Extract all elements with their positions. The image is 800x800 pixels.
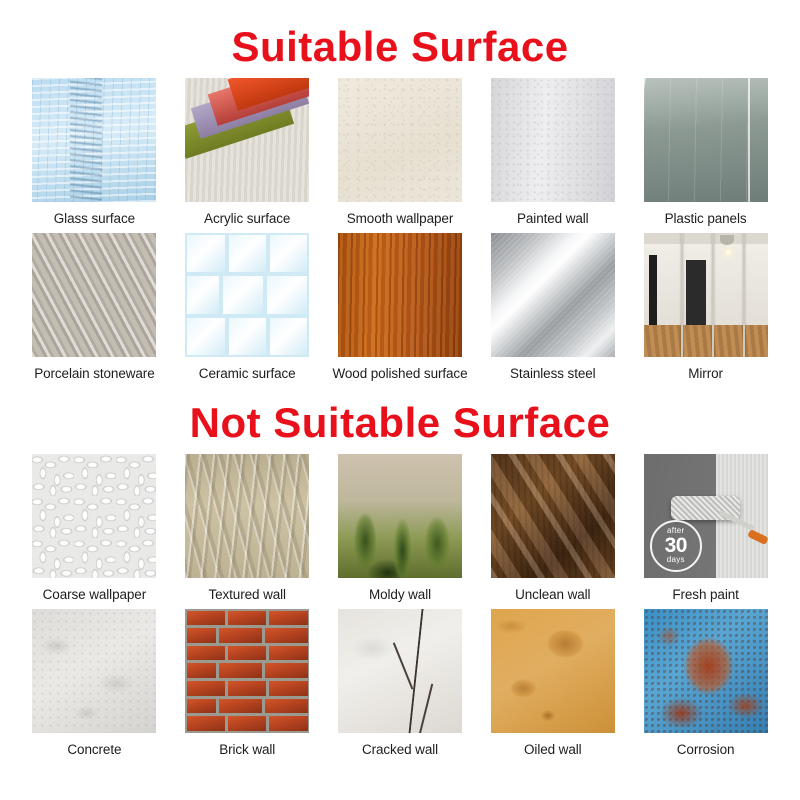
brick — [187, 628, 217, 643]
brick-row — [185, 644, 309, 662]
brick — [269, 716, 307, 731]
caption-stainless-steel: Stainless steel — [510, 366, 596, 381]
brick — [187, 681, 225, 696]
thumbnail-corrosion — [644, 609, 768, 733]
crack-line — [408, 609, 423, 733]
brick — [187, 699, 217, 714]
thumbnail-acrylic-surface — [185, 78, 309, 202]
thumbnail-plastic-panels — [644, 78, 768, 202]
brick-row — [185, 697, 309, 715]
caption-moldy-wall: Moldy wall — [369, 587, 431, 602]
thumbnail-smooth-wallpaper — [338, 78, 462, 202]
brick-row — [185, 609, 309, 627]
thumbnail-ceramic-surface — [185, 233, 309, 357]
brick — [228, 681, 266, 696]
ceramic-tile-row — [185, 233, 309, 274]
suitable-row-1: Glass surface Acrylic surface Smooth wal… — [0, 78, 800, 233]
mirror-reflected-door — [649, 255, 658, 324]
surface-cell-mirror[interactable]: Mirror — [629, 233, 782, 388]
infographic-page: Suitable Surface Glass surface Acrylic s… — [0, 0, 800, 800]
brick — [219, 699, 262, 714]
surface-cell-oiled-wall[interactable]: Oiled wall — [476, 609, 629, 764]
surface-cell-ceramic-surface[interactable]: Ceramic surface — [171, 233, 324, 388]
brick — [228, 611, 266, 626]
ceramic-tile — [267, 276, 307, 313]
brick — [269, 646, 307, 661]
caption-corrosion: Corrosion — [677, 742, 735, 757]
surface-cell-coarse-wallpaper[interactable]: Coarse wallpaper — [18, 454, 171, 609]
ceramic-tile — [229, 235, 266, 272]
heading-suitable-surface: Suitable Surface — [0, 0, 800, 78]
ceramic-tile — [187, 276, 219, 313]
brick — [269, 611, 307, 626]
caption-coarse-wallpaper: Coarse wallpaper — [43, 587, 146, 602]
ceramic-tile — [270, 318, 307, 355]
brick-row — [185, 627, 309, 645]
caption-brick-wall: Brick wall — [219, 742, 275, 757]
badge-label-number: 30 — [665, 535, 687, 556]
crack-line — [393, 643, 413, 690]
thumbnail-fresh-paint: after 30 days — [644, 454, 768, 578]
caption-unclean-wall: Unclean wall — [515, 587, 590, 602]
ceramic-tile-row — [185, 316, 309, 357]
thumbnail-cracked-wall — [338, 609, 462, 733]
caption-textured-wall: Textured wall — [208, 587, 286, 602]
ceramic-tile-row — [185, 274, 309, 315]
thumbnail-oiled-wall — [491, 609, 615, 733]
ceramic-tile — [229, 318, 266, 355]
surface-cell-glass-surface[interactable]: Glass surface — [18, 78, 171, 233]
surface-cell-plastic-panels[interactable]: Plastic panels — [629, 78, 782, 233]
brick-row — [185, 679, 309, 697]
caption-glass-surface: Glass surface — [54, 211, 135, 226]
mirror-panel-divider — [681, 233, 683, 357]
not-suitable-row-2: Concrete — [0, 609, 800, 764]
brick — [228, 646, 266, 661]
suitable-row-2: Porcelain stoneware — [0, 233, 800, 388]
surface-cell-wood-polished-surface[interactable]: Wood polished surface — [324, 233, 477, 388]
surface-cell-brick-wall[interactable]: Brick wall — [171, 609, 324, 764]
surface-cell-moldy-wall[interactable]: Moldy wall — [324, 454, 477, 609]
thumbnail-painted-wall — [491, 78, 615, 202]
thumbnail-porcelain-stoneware — [32, 233, 156, 357]
caption-smooth-wallpaper: Smooth wallpaper — [347, 211, 453, 226]
ceramic-tile — [223, 276, 263, 313]
thumbnail-concrete — [32, 609, 156, 733]
ceramic-tile — [270, 235, 307, 272]
brick — [219, 628, 262, 643]
thumbnail-moldy-wall — [338, 454, 462, 578]
surface-cell-corrosion[interactable]: Corrosion — [629, 609, 782, 764]
brick — [269, 681, 307, 696]
after-30-days-badge: after 30 days — [650, 520, 702, 572]
heading-not-suitable-surface: Not Suitable Surface — [0, 388, 800, 454]
thumbnail-glass-surface — [32, 78, 156, 202]
surface-cell-smooth-wallpaper[interactable]: Smooth wallpaper — [324, 78, 477, 233]
not-suitable-row-1: Coarse wallpaper Textured wall Moldy wal… — [0, 454, 800, 609]
brick — [187, 663, 217, 678]
surface-cell-painted-wall[interactable]: Painted wall — [476, 78, 629, 233]
brick — [187, 716, 225, 731]
brick — [265, 699, 308, 714]
badge-label-days: days — [667, 556, 685, 564]
thumbnail-textured-wall — [185, 454, 309, 578]
caption-acrylic-surface: Acrylic surface — [204, 211, 290, 226]
caption-cracked-wall: Cracked wall — [362, 742, 438, 757]
caption-oiled-wall: Oiled wall — [524, 742, 582, 757]
brick-row — [185, 662, 309, 680]
caption-concrete: Concrete — [67, 742, 121, 757]
surface-cell-acrylic-surface[interactable]: Acrylic surface — [171, 78, 324, 233]
surface-cell-porcelain-stoneware[interactable]: Porcelain stoneware — [18, 233, 171, 388]
thumbnail-coarse-wallpaper — [32, 454, 156, 578]
mirror-reflected-ceiling — [644, 233, 768, 244]
mirror-reflected-floor — [644, 325, 768, 357]
brick — [219, 663, 262, 678]
caption-ceramic-surface: Ceramic surface — [199, 366, 296, 381]
brick — [265, 663, 308, 678]
thumbnail-mirror — [644, 233, 768, 357]
ceramic-tile — [187, 318, 224, 355]
caption-painted-wall: Painted wall — [517, 211, 589, 226]
surface-cell-cracked-wall[interactable]: Cracked wall — [324, 609, 477, 764]
surface-cell-stainless-steel[interactable]: Stainless steel — [476, 233, 629, 388]
ceramic-tile — [187, 235, 224, 272]
caption-mirror: Mirror — [688, 366, 723, 381]
caption-wood-polished-surface: Wood polished surface — [333, 366, 468, 381]
caption-plastic-panels: Plastic panels — [665, 211, 747, 226]
mirror-panel-divider — [712, 233, 714, 357]
surface-cell-textured-wall[interactable]: Textured wall — [171, 454, 324, 609]
brick — [187, 611, 225, 626]
surface-cell-fresh-paint[interactable]: after 30 days Fresh paint — [629, 454, 782, 609]
brick — [187, 646, 225, 661]
surface-cell-concrete[interactable]: Concrete — [18, 609, 171, 764]
crack-line — [419, 684, 433, 733]
caption-porcelain-stoneware: Porcelain stoneware — [34, 366, 154, 381]
brick-row — [185, 715, 309, 733]
surface-cell-unclean-wall[interactable]: Unclean wall — [476, 454, 629, 609]
thumbnail-stainless-steel — [491, 233, 615, 357]
mirror-reflected-door — [686, 260, 706, 324]
mirror-panel-divider — [743, 233, 745, 357]
brick — [228, 716, 266, 731]
thumbnail-unclean-wall — [491, 454, 615, 578]
thumbnail-wood-polished-surface — [338, 233, 462, 357]
caption-fresh-paint: Fresh paint — [672, 587, 738, 602]
brick — [265, 628, 308, 643]
thumbnail-brick-wall — [185, 609, 309, 733]
